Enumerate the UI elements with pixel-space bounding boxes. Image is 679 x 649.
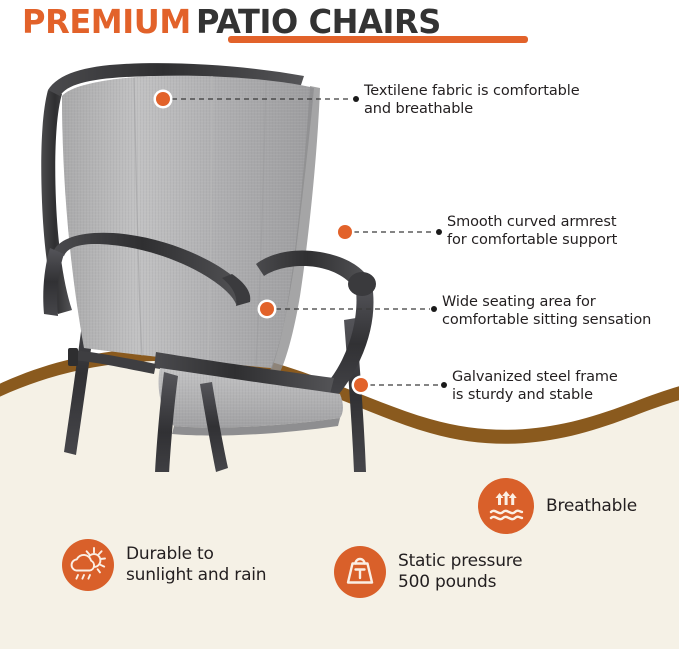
badge-breathable-label: Breathable (546, 496, 637, 517)
badge-static-pressure-label: Static pressure 500 pounds (398, 551, 522, 593)
breathable-waves-icon (478, 478, 534, 534)
infographic-canvas: PREMIUM PATIO CHAIRS (0, 0, 679, 649)
callout-fabric: Textilene fabric is comfortable and brea… (364, 82, 580, 118)
static-pressure-badge-circle (334, 546, 386, 598)
callout-frame: Galvanized steel frame is sturdy and sta… (452, 368, 618, 404)
breathable-badge-circle (478, 478, 534, 534)
badge-durable-label: Durable to sunlight and rain (126, 544, 266, 586)
badge-durable: Durable to sunlight and rain (62, 539, 266, 591)
callout-seat: Wide seating area for comfortable sittin… (442, 293, 651, 329)
callout-armrest: Smooth curved armrest for comfortable su… (447, 213, 617, 249)
sun-cloud-rain-icon (62, 539, 114, 591)
durable-badge-circle (62, 539, 114, 591)
weight-icon (334, 546, 386, 598)
badge-breathable: Breathable (478, 478, 637, 534)
badge-static-pressure: Static pressure 500 pounds (334, 546, 522, 598)
